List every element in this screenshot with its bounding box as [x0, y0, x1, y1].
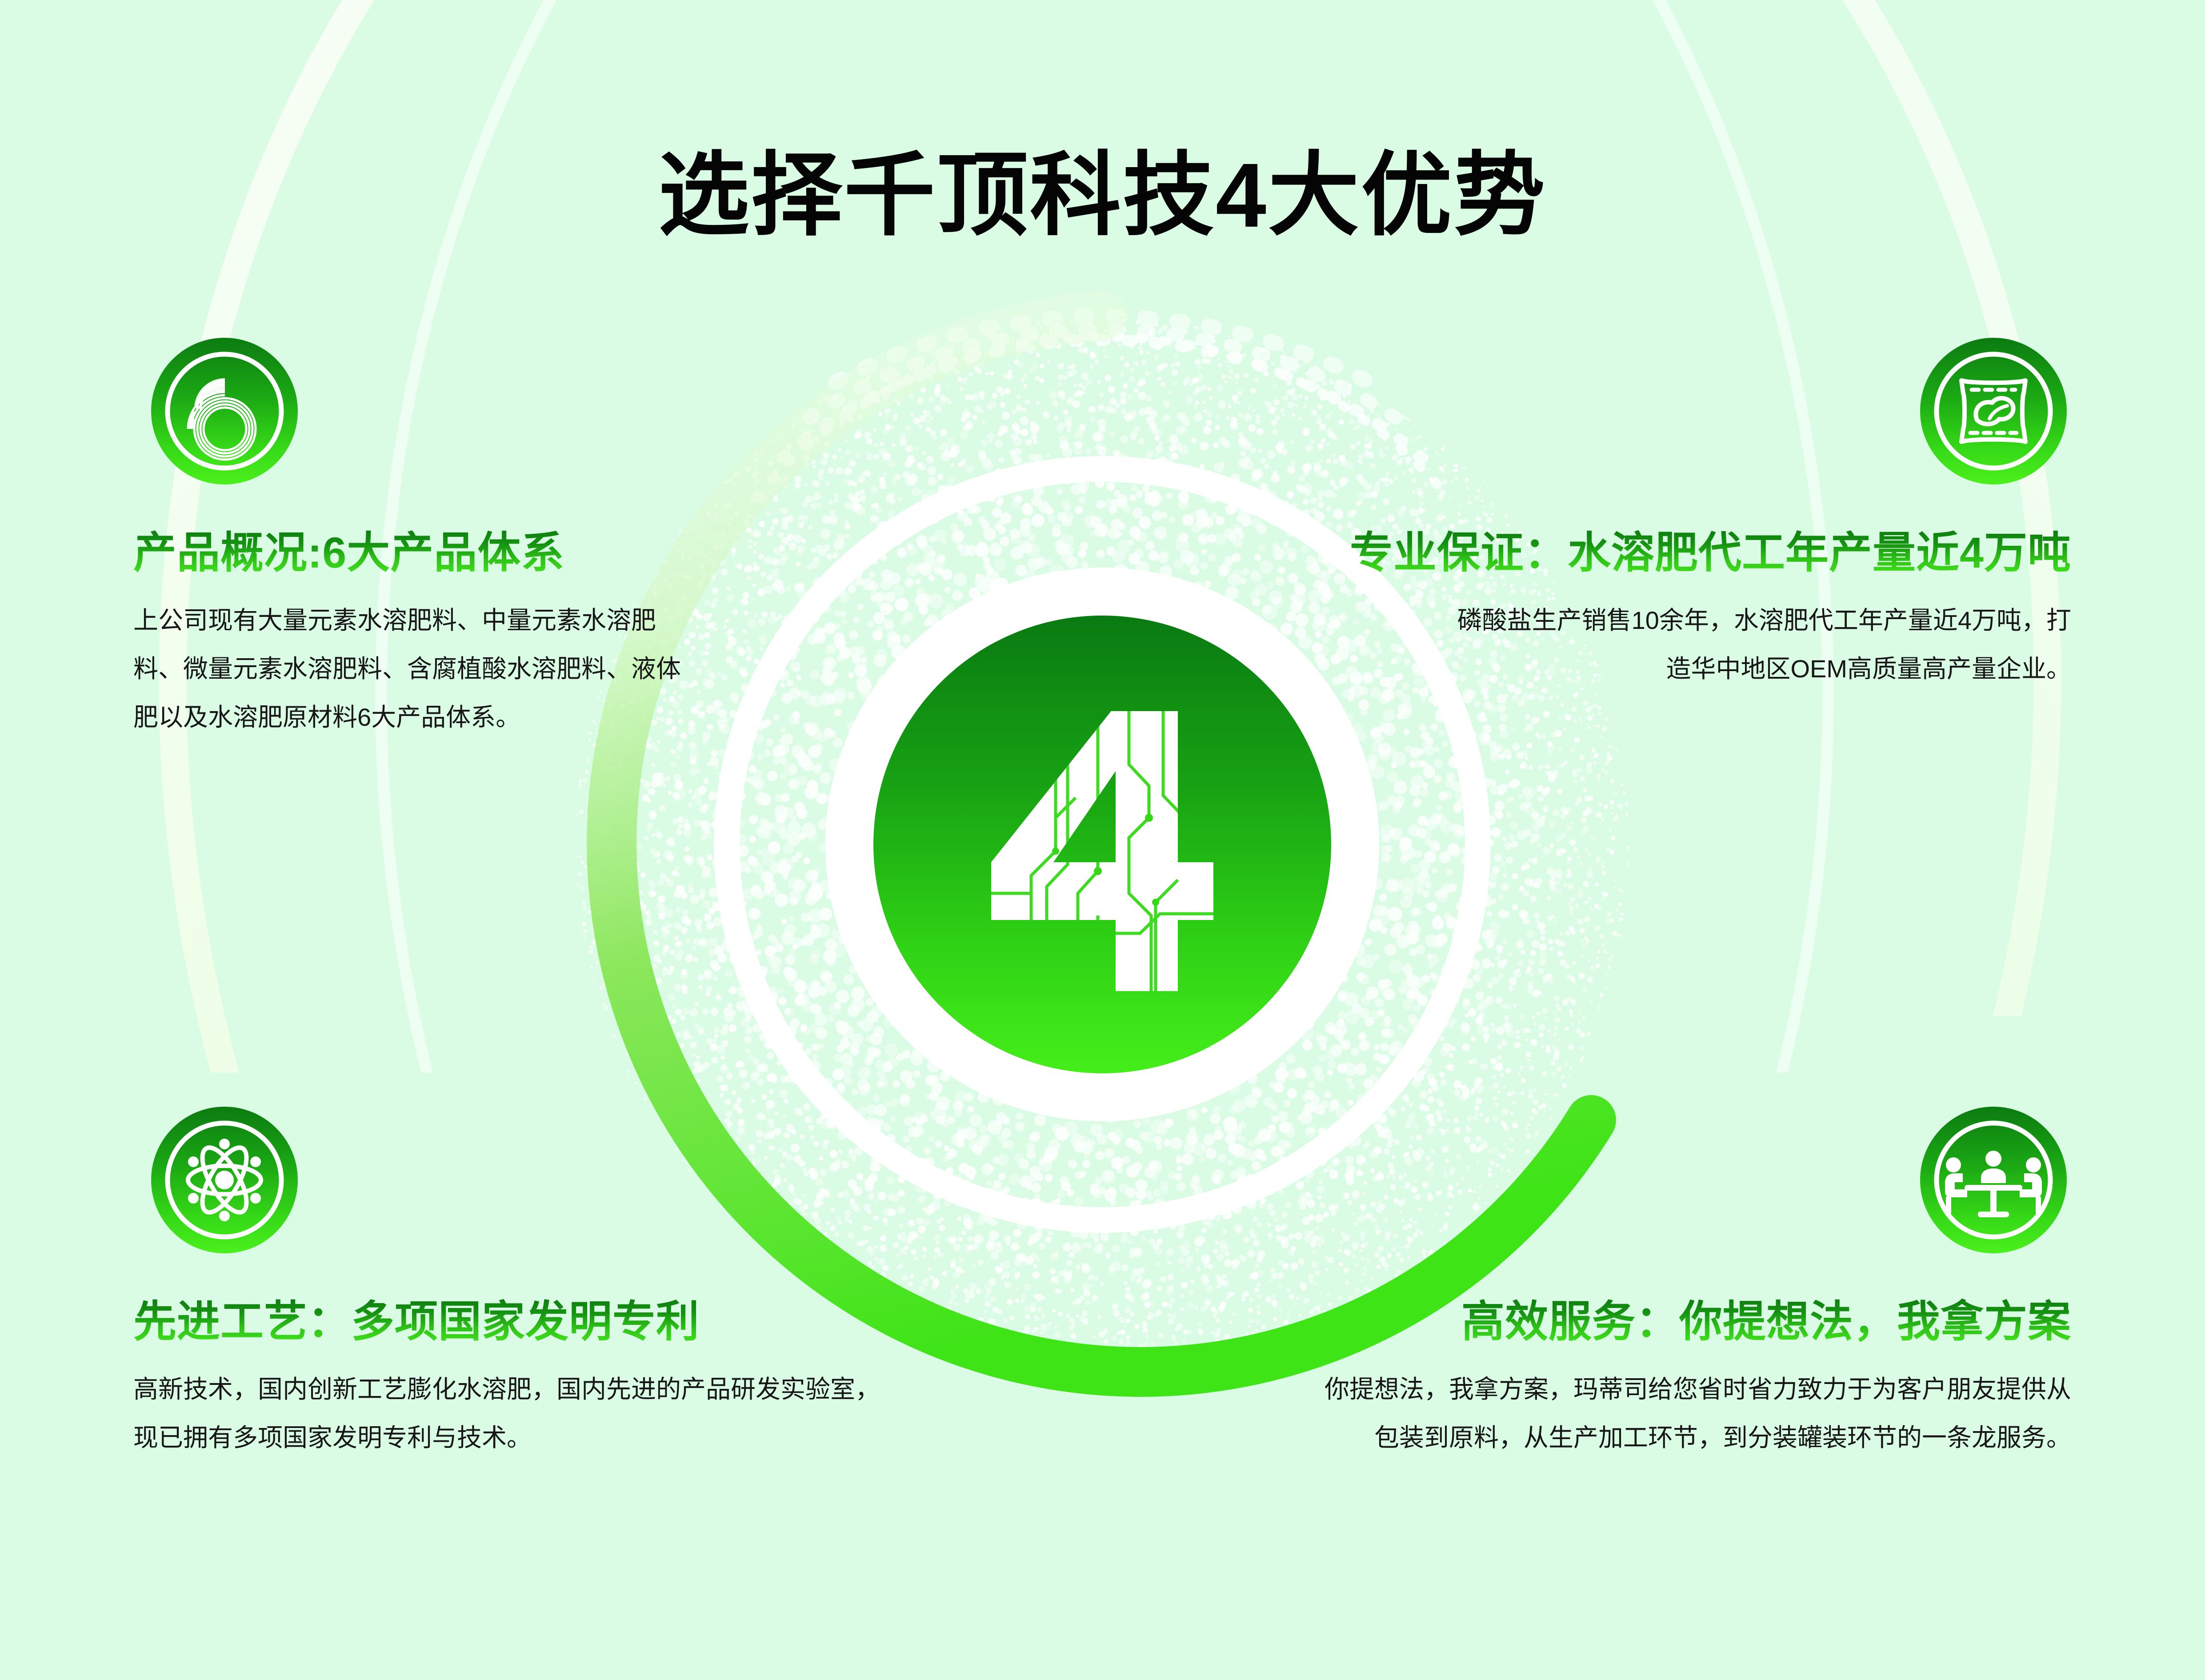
card-heading: 产品概况:6大产品体系: [133, 529, 707, 577]
card-body: 高新技术，国内创新工艺膨化水溶肥，国内先进的产品研发实验室，现已拥有多项国家发明…: [133, 1365, 880, 1462]
card-body: 磷酸盐生产销售10余年，水溶肥代工年产量近4万吨，打造华中地区OEM高质量高产量…: [1440, 596, 2071, 693]
advantage-card-top-left: 产品概况:6大产品体系 上公司现有大量元素水溶肥料、中量元素水溶肥料、微量元素水…: [133, 338, 707, 741]
advantage-card-bottom-right: 高效服务：你提想法，我拿方案 你提想法，我拿方案，玛蒂司给您省时省力致力于为客户…: [1311, 1107, 2071, 1462]
page-title: 选择千顶科技4大优势: [0, 145, 2205, 246]
atom-icon: [151, 1107, 298, 1253]
card-heading: 专业保证：水溶肥代工年产量近4万吨: [1200, 529, 2071, 577]
card-heading: 高效服务：你提想法，我拿方案: [1311, 1298, 2071, 1346]
number-six-ripple-icon: [151, 338, 298, 484]
circuit-four-icon: [964, 684, 1240, 1004]
advantage-card-bottom-left: 先进工艺：多项国家发明专利 高新技术，国内创新工艺膨化水溶肥，国内先进的产品研发…: [133, 1107, 898, 1462]
card-body: 上公司现有大量元素水溶肥料、中量元素水溶肥料、微量元素水溶肥料、含腐植酸水溶肥料…: [133, 596, 684, 742]
advantage-card-top-right: 专业保证：水溶肥代工年产量近4万吨 磷酸盐生产销售10余年，水溶肥代工年产量近4…: [1200, 338, 2071, 693]
fertilizer-bag-icon: [1920, 338, 2067, 484]
card-body: 你提想法，我拿方案，玛蒂司给您省时省力致力于为客户朋友提供从包装到原料，从生产加…: [1316, 1365, 2071, 1462]
card-heading: 先进工艺：多项国家发明专利: [133, 1298, 898, 1346]
infographic-stage: 选择千顶科技4大优势: [0, 0, 2205, 1680]
meeting-table-people-icon: [1920, 1107, 2067, 1253]
